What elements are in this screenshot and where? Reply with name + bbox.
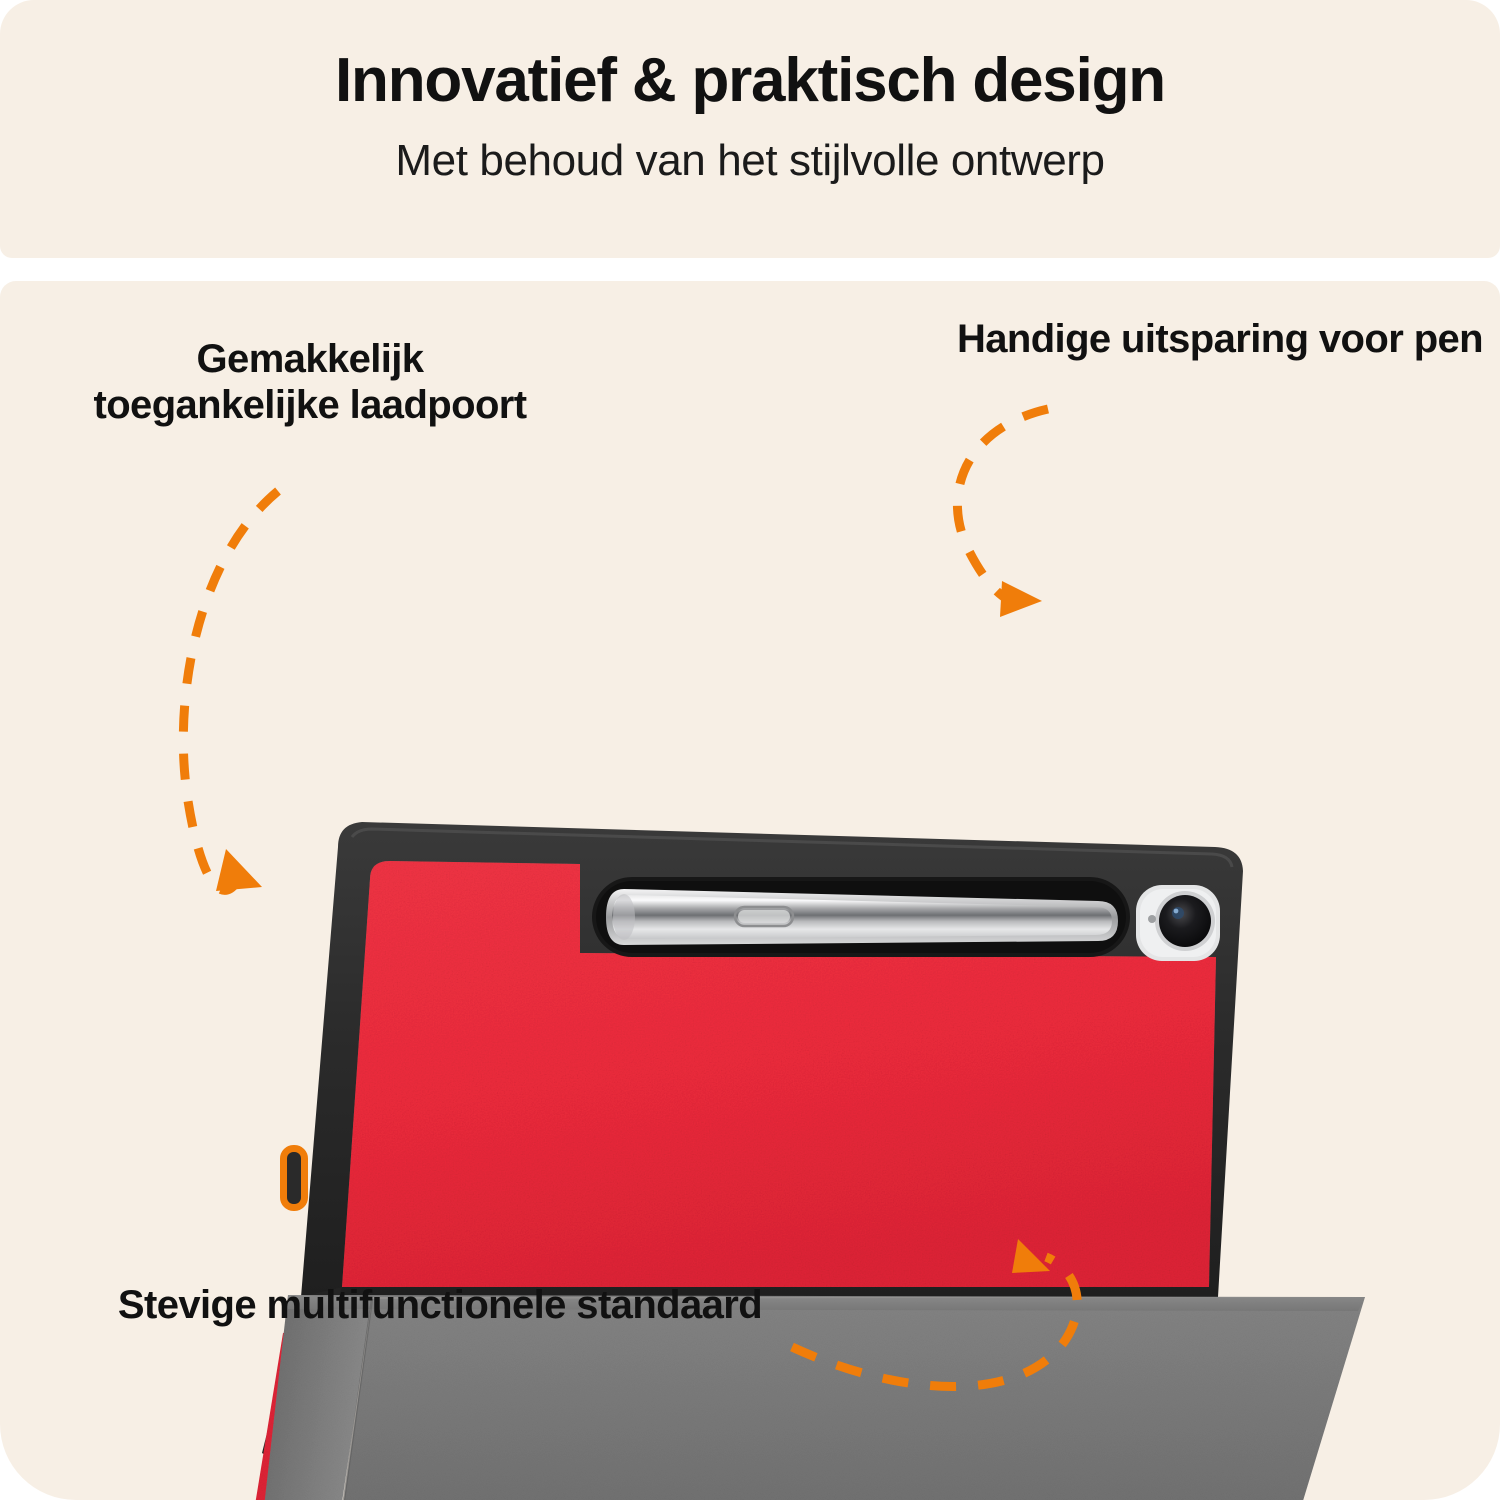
- rear-camera-module: [1136, 885, 1220, 961]
- charging-port-cutout: [282, 1147, 306, 1209]
- callout-label-charging-port: Gemakkelijk toegankelijke laadpoort: [90, 337, 530, 428]
- infographic-page: Innovatief & praktisch design Met behoud…: [0, 0, 1500, 1500]
- callout-label-stand: Stevige multifunctionele standaard: [110, 1283, 770, 1329]
- page-subtitle: Met behoud van het stijlvolle ontwerp: [395, 137, 1104, 185]
- header-panel: Innovatief & praktisch design Met behoud…: [0, 0, 1500, 258]
- main-panel: Gemakkelijk toegankelijke laadpoort Hand…: [0, 281, 1500, 1500]
- callout-label-pen-cutout: Handige uitsparing voor pen: [955, 317, 1485, 363]
- page-title: Innovatief & praktisch design: [335, 48, 1165, 115]
